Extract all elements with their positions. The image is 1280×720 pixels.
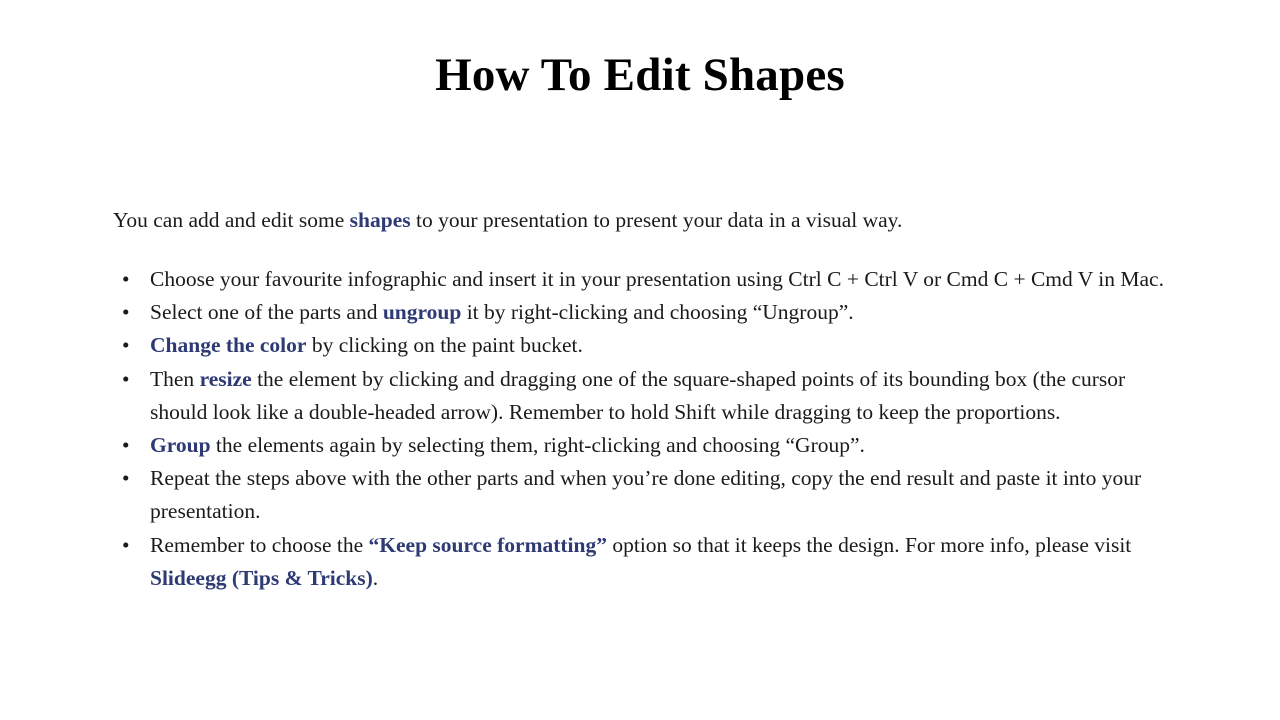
list-item-text-2: it by right-clicking and choosing “Ungro…: [461, 300, 853, 324]
list-item-text-3: .: [373, 566, 378, 590]
list-item-text-2: option so that it keeps the design. For …: [607, 533, 1137, 557]
list-item: •Repeat the steps above with the other p…: [113, 462, 1183, 528]
list-item-highlight-ungroup: ungroup: [383, 300, 461, 324]
intro-text-before: You can add and edit some: [113, 208, 350, 232]
list-item-text-1: Select one of the parts and: [150, 300, 383, 324]
bullet-marker-icon: •: [122, 429, 130, 462]
bullet-marker-icon: •: [122, 363, 130, 396]
intro-text-after: to your presentation to present your dat…: [411, 208, 903, 232]
list-item: •Then resize the element by clicking and…: [113, 363, 1183, 429]
list-item: •Remember to choose the “Keep source for…: [113, 529, 1183, 595]
bullet-marker-icon: •: [122, 263, 130, 296]
list-item-highlight-change-color: Change the color: [150, 333, 306, 357]
instruction-list: •Choose your favourite infographic and i…: [113, 263, 1183, 595]
list-item: •Group the elements again by selecting t…: [113, 429, 1183, 462]
bullet-marker-icon: •: [122, 462, 130, 495]
list-item-highlight-resize: resize: [200, 367, 252, 391]
list-item: •Choose your favourite infographic and i…: [113, 263, 1183, 296]
list-item-highlight-keep-source-formatting: “Keep source formatting”: [369, 533, 607, 557]
page-title: How To Edit Shapes: [0, 48, 1280, 102]
bullet-marker-icon: •: [122, 529, 130, 562]
list-item-text-1: Remember to choose the: [150, 533, 369, 557]
list-item-text-2: the elements again by selecting them, ri…: [211, 433, 865, 457]
list-item-link-slideegg[interactable]: Slideegg (Tips & Tricks): [150, 566, 373, 590]
list-item: •Change the color by clicking on the pai…: [113, 329, 1183, 362]
list-item-text-1: Choose your favourite infographic and in…: [150, 267, 1164, 291]
list-item-highlight-group: Group: [150, 433, 211, 457]
list-item-text-2: by clicking on the paint bucket.: [306, 333, 582, 357]
list-item-text-1: Repeat the steps above with the other pa…: [150, 466, 1147, 523]
bullet-marker-icon: •: [122, 296, 130, 329]
list-item: •Select one of the parts and ungroup it …: [113, 296, 1183, 329]
intro-paragraph: You can add and edit some shapes to your…: [113, 204, 1173, 236]
slide-canvas: How To Edit Shapes You can add and edit …: [0, 0, 1280, 720]
bullet-marker-icon: •: [122, 329, 130, 362]
list-item-text-2: the element by clicking and dragging one…: [150, 367, 1131, 424]
list-item-text-1: Then: [150, 367, 200, 391]
intro-highlight-shapes: shapes: [350, 208, 411, 232]
